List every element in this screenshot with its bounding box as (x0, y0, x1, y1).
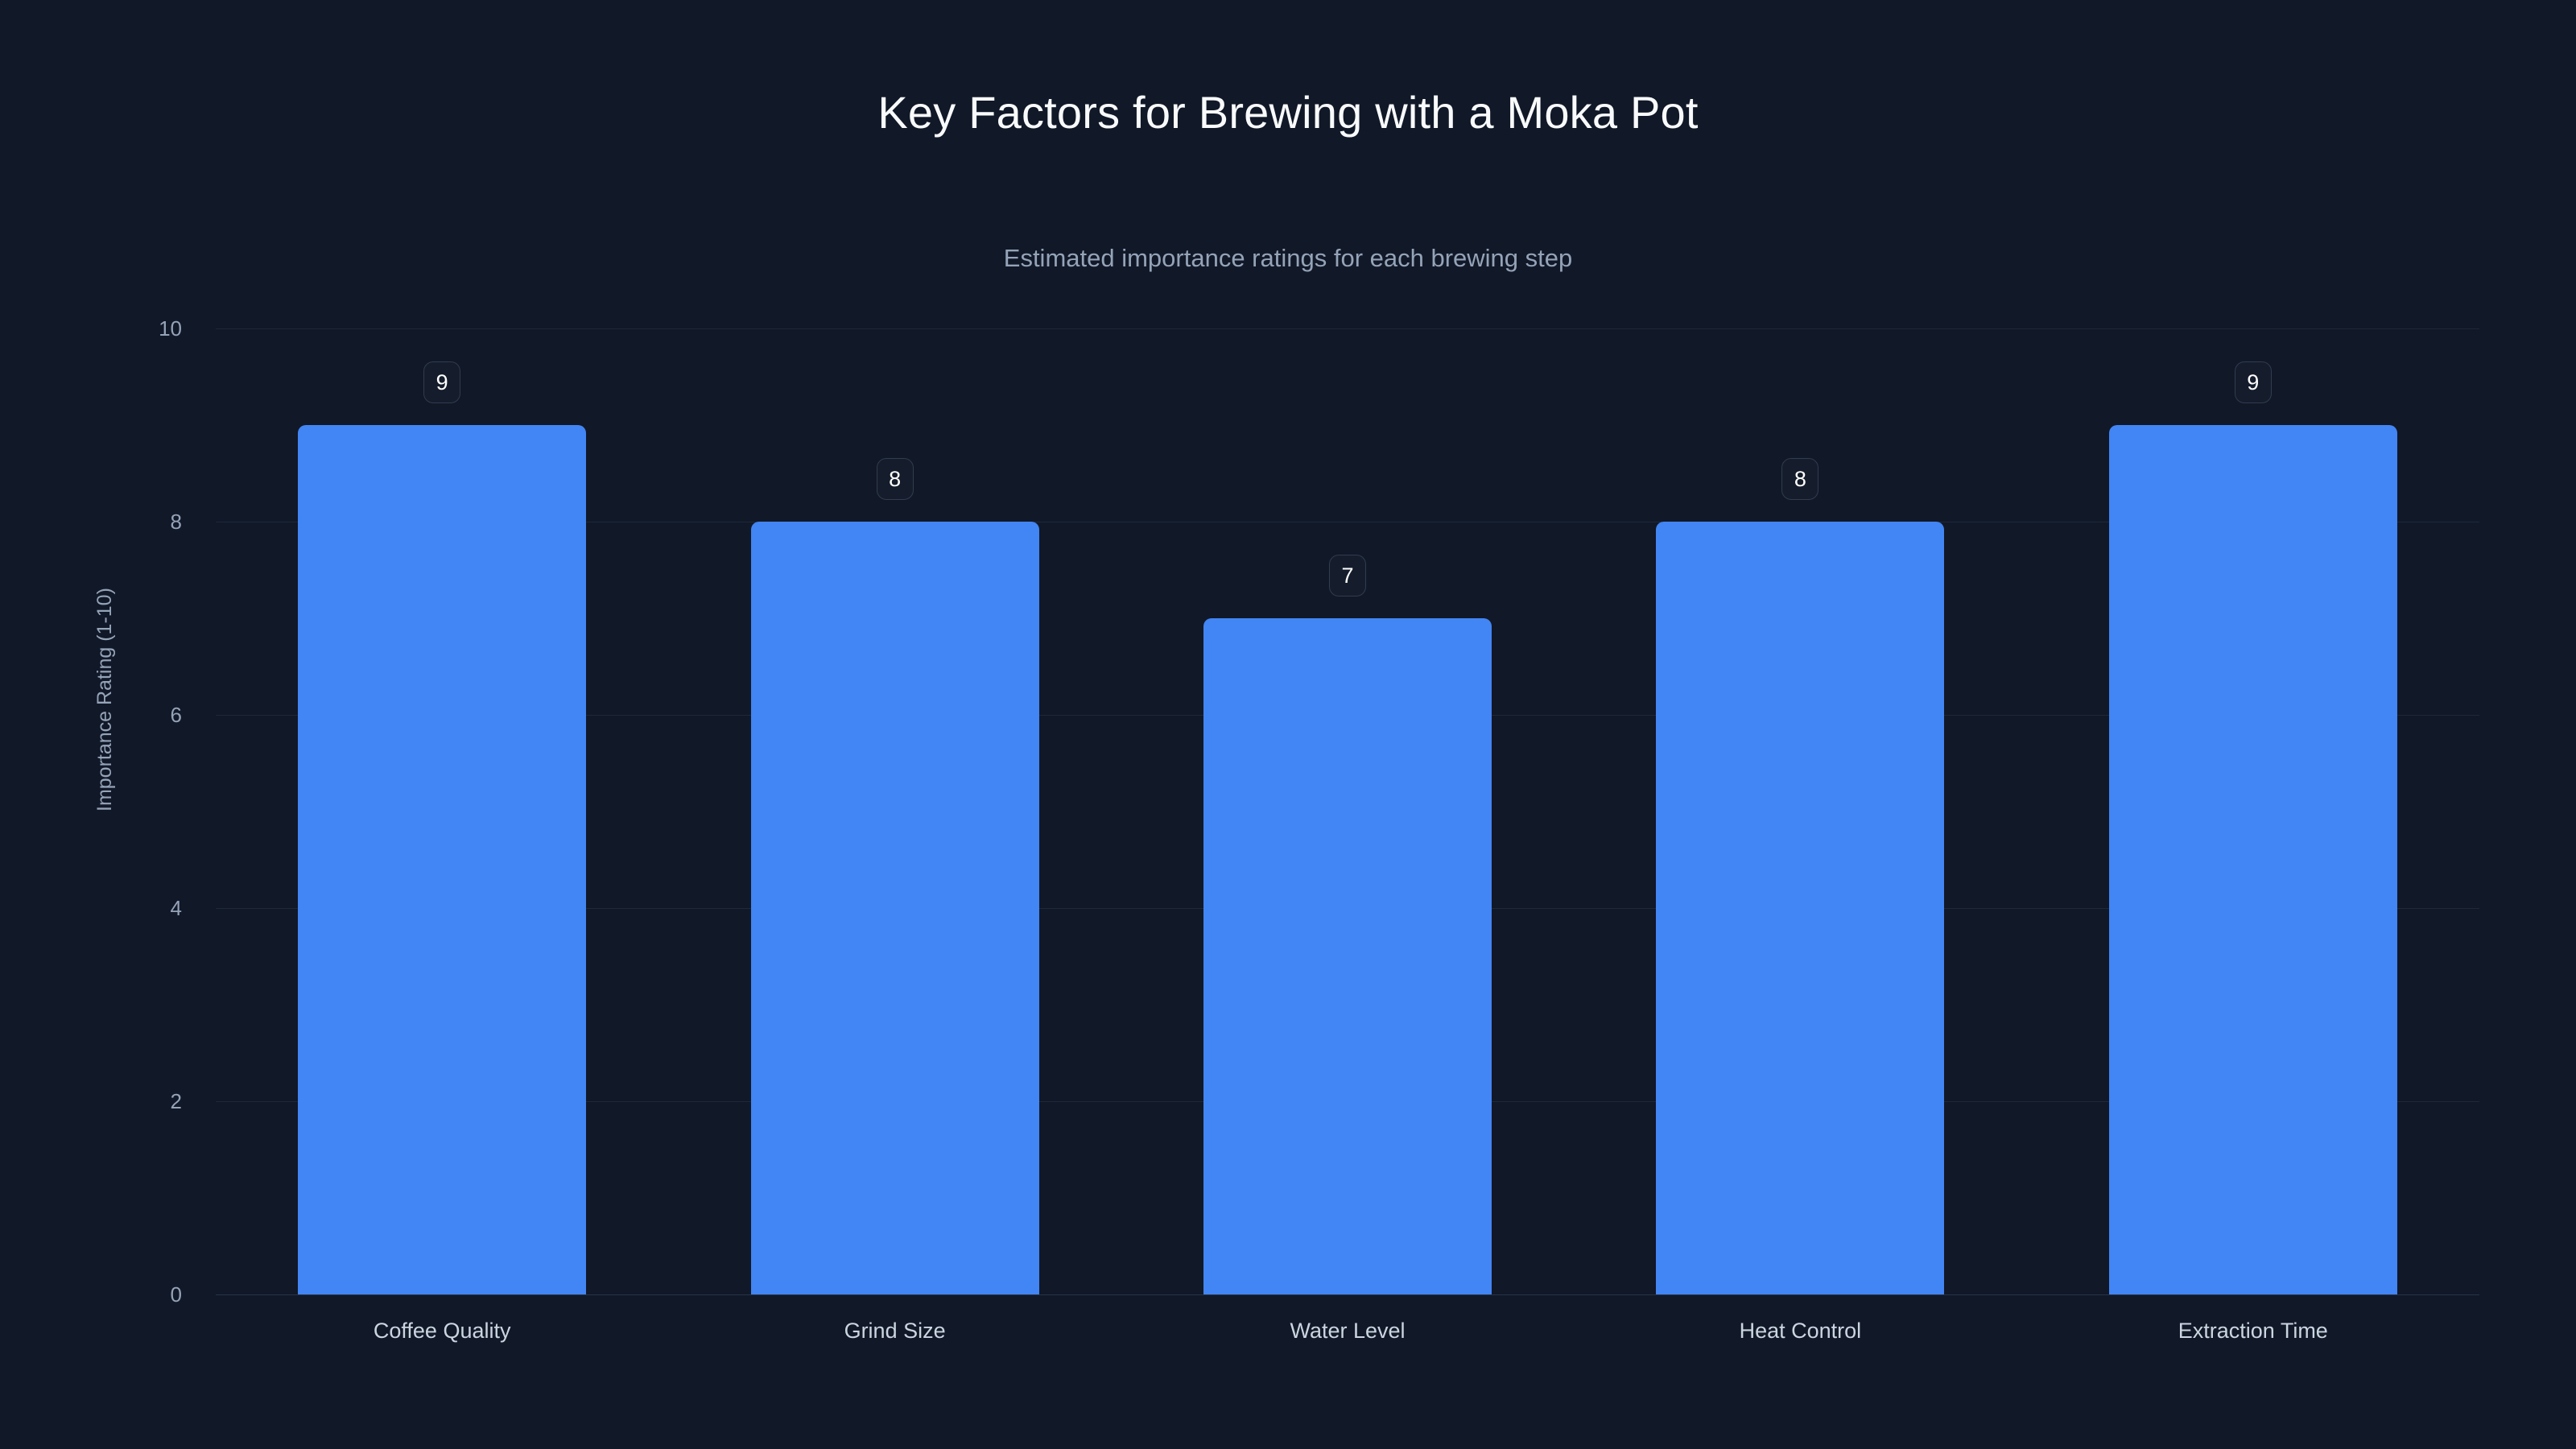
bar[interactable] (1203, 618, 1492, 1294)
chart-subtitle: Estimated importance ratings for each br… (0, 246, 2576, 270)
bar-group[interactable]: 7 (1203, 328, 1492, 1294)
y-tick-label: 0 (171, 1284, 182, 1305)
chart-title: Key Factors for Brewing with a Moka Pot (0, 90, 2576, 135)
bar[interactable] (298, 425, 586, 1294)
bar[interactable] (1656, 522, 1944, 1294)
y-tick-label: 8 (171, 511, 182, 532)
plot-area: 98789 (216, 328, 2479, 1294)
x-tick-label: Grind Size (844, 1320, 946, 1342)
bar-value-badge: 7 (1329, 555, 1366, 597)
bar-group[interactable]: 8 (751, 328, 1039, 1294)
y-tick-label: 4 (171, 898, 182, 919)
gridline-0 (216, 1294, 2479, 1295)
x-tick-label: Heat Control (1740, 1320, 1862, 1342)
bars-layer: 98789 (216, 328, 2479, 1294)
bar-group[interactable]: 9 (2109, 328, 2397, 1294)
bar[interactable] (2109, 425, 2397, 1294)
y-tick-label: 2 (171, 1091, 182, 1112)
bar-value-badge: 8 (1781, 458, 1818, 500)
y-tick-label: 6 (171, 704, 182, 725)
bar-group[interactable]: 8 (1656, 328, 1944, 1294)
x-tick-label: Extraction Time (2178, 1320, 2328, 1342)
y-tick-label: 10 (159, 318, 182, 339)
x-tick-label: Water Level (1290, 1320, 1405, 1342)
bar-group[interactable]: 9 (298, 328, 586, 1294)
bar-chart-figure: Key Factors for Brewing with a Moka Pot … (0, 0, 2576, 1449)
x-axis-tick-labels: Coffee QualityGrind SizeWater LevelHeat … (216, 1320, 2479, 1356)
y-axis-tick-labels: 0246810 (0, 328, 216, 1294)
bar-value-badge: 9 (2235, 361, 2272, 403)
bar-value-badge: 9 (423, 361, 460, 403)
bar-value-badge: 8 (877, 458, 914, 500)
x-tick-label: Coffee Quality (374, 1320, 511, 1342)
bar[interactable] (751, 522, 1039, 1294)
